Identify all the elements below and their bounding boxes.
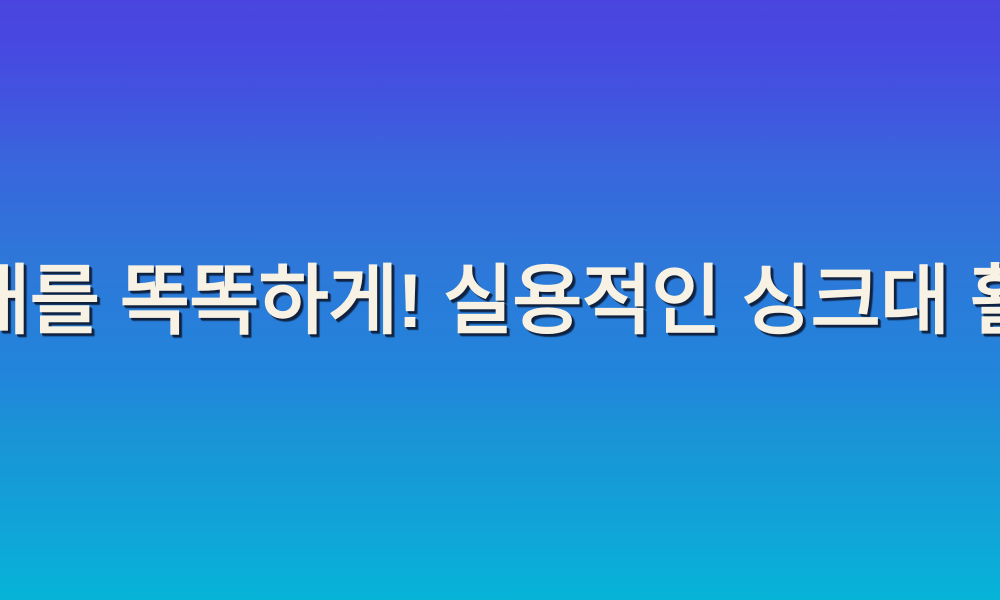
thumbnail-banner: 싱크대를 똑똑하게! 실용적인 싱크대 활용법	[0, 0, 1000, 600]
headline-band: 싱크대를 똑똑하게! 실용적인 싱크대 활용법	[0, 0, 1000, 600]
banner-headline: 싱크대를 똑똑하게! 실용적인 싱크대 활용법	[0, 264, 1000, 340]
